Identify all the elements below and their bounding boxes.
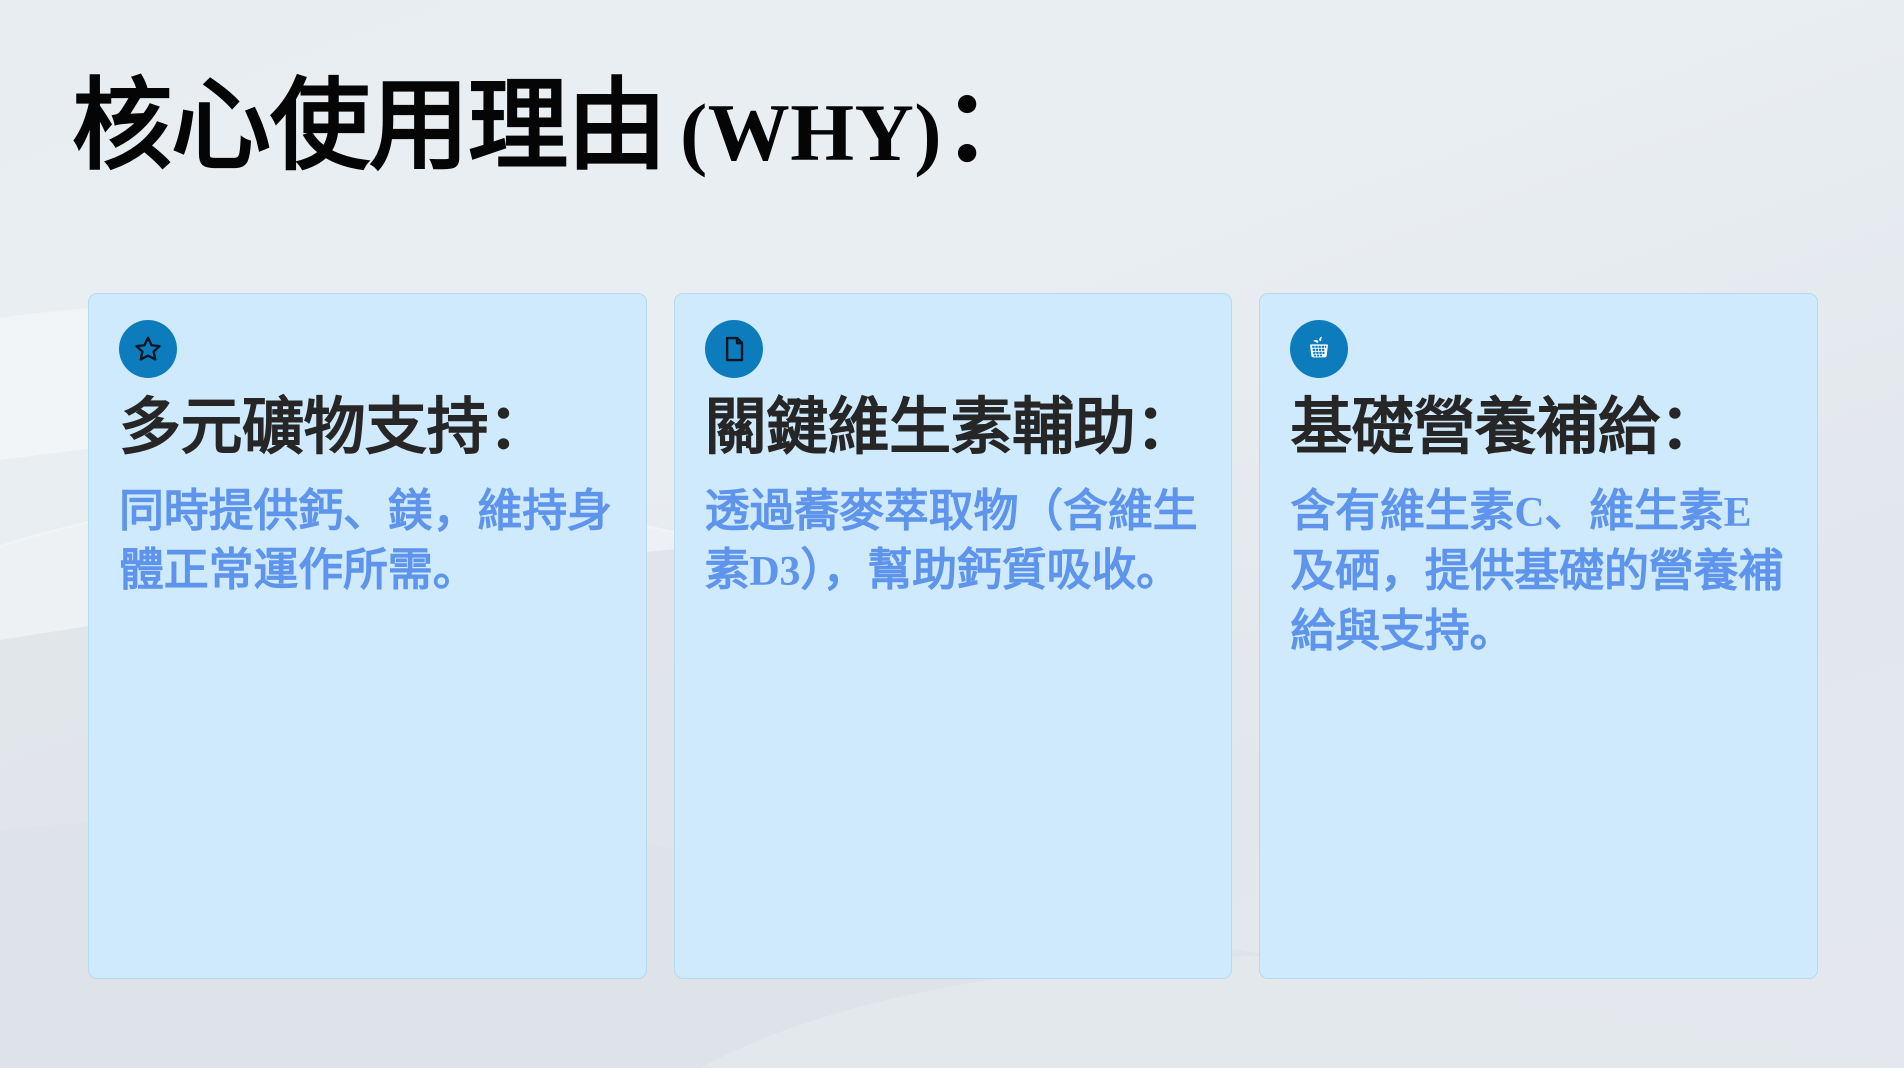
card-heading: 關鍵維生素輔助： [705,392,1202,465]
card-basic-nutrition[interactable]: 基礎營養補給： 含有維生素C、維生素E及硒，提供基礎的營養補給與支持。 [1259,293,1818,979]
card-list: 多元礦物支持： 同時提供鈣、鎂，維持身體正常運作所需。 關鍵維生素輔助： 透過蕎… [88,293,1818,979]
card-body-segment: 同時提供鈣、鎂，維持身體正常運作所需。 [119,485,612,596]
card-body-segment: 含有維生素 [1290,485,1514,536]
card-body-segment-serif: E [1724,490,1752,536]
card-body: 含有維生素C、維生素E及硒，提供基礎的營養補給與支持。 [1290,481,1787,661]
card-mineral-support[interactable]: 多元礦物支持： 同時提供鈣、鎂，維持身體正常運作所需。 [88,293,647,979]
fruit-basket-icon [1290,320,1348,378]
card-body-segment: 、維生素 [1544,485,1723,536]
slide-canvas: 核心使用理由 (WHY) ： 多元礦物支持： 同時提供鈣、鎂，維持身體正常運作所… [0,0,1904,1068]
document-page-icon [705,320,763,378]
card-body-segment-serif: D3 [749,549,800,595]
card-body-segment-serif: C [1514,490,1544,536]
card-heading: 多元礦物支持： [119,392,616,465]
card-body: 同時提供鈣、鎂，維持身體正常運作所需。 [119,481,616,601]
page-title: 核心使用理由 (WHY) ： [72,74,1042,179]
card-body: 透過蕎麥萃取物（含維生素D3），幫助鈣質吸收。 [705,481,1202,601]
card-body-segment: 及硒，提供基礎的營養補給與支持。 [1290,545,1783,656]
card-body-segment: ），幫助鈣質吸收。 [800,544,1181,595]
card-vitamin-support[interactable]: 關鍵維生素輔助： 透過蕎麥萃取物（含維生素D3），幫助鈣質吸收。 [674,293,1233,979]
page-title-cjk: 核心使用理由 [72,74,666,179]
star-icon [119,320,177,378]
page-title-colon: ： [942,74,1042,179]
card-heading: 基礎營養補給： [1290,392,1787,465]
page-title-latin: (WHY) [666,90,942,176]
